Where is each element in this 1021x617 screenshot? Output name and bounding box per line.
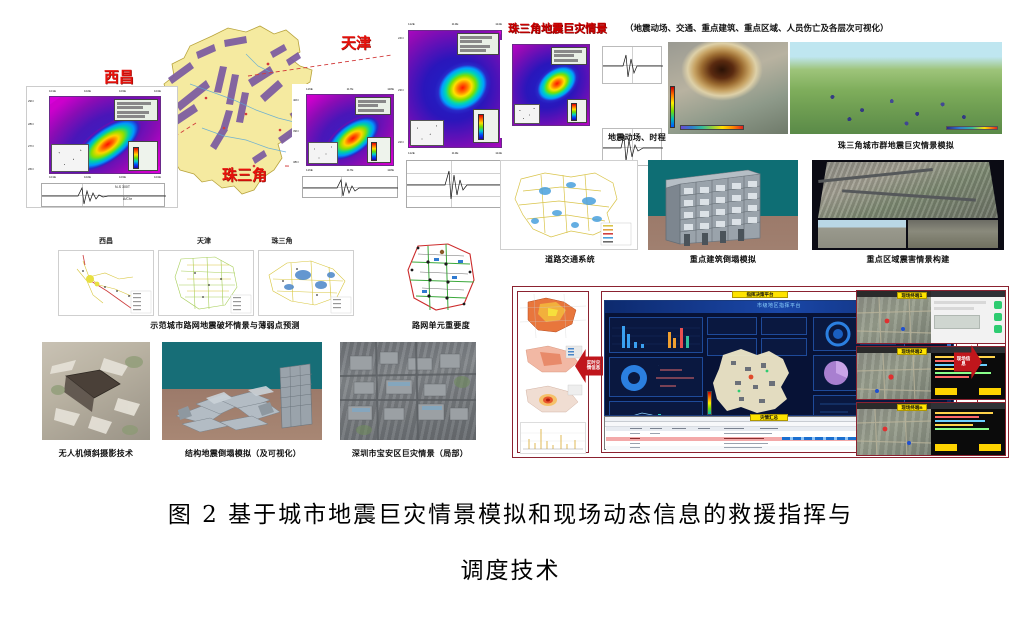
key-area-damage-view: [812, 160, 1004, 250]
caption-uav-oblique: 无人机倾斜摄影技术: [28, 448, 164, 459]
netmap-label-xichang: 西昌: [76, 236, 136, 246]
ground-motion-panel-prd: 112E113E114E 24N23N22N 112E113E114E: [398, 18, 510, 218]
right-header-title: 珠三角地震巨灾情景: [508, 20, 607, 36]
gm-xaxis-tianjin: 116E117E118E: [306, 87, 394, 91]
field-terminal-n[interactable]: 现场终端n: [856, 402, 1006, 456]
caption-line-1: 图 2 基于城市地震巨灾情景模拟和现场动态信息的救援指挥与: [168, 502, 853, 528]
ground-motion-panel-xichang: 101E102E103E104E 29N28N27N26N 101E102E10…: [26, 86, 178, 208]
gm-colorbar-box-xichang: [128, 141, 158, 171]
central-gis-map[interactable]: [705, 319, 809, 416]
caption-structural-collapse: 结构地震倒塌模拟（及可视化）: [152, 448, 334, 459]
hazard-choropleth-map: [520, 294, 586, 338]
prd-3d-terrain-view: [790, 42, 1002, 134]
road-damage-map-xichang: [58, 250, 154, 316]
badge-field-terminal-2[interactable]: 现场终端2: [897, 348, 927, 355]
ground-motion-panel-tianjin: 116E117E118E 40N39N38N 116E117E118E: [292, 84, 402, 210]
prd-pga-surface-view: [668, 42, 788, 134]
gm-legend-prd: [457, 33, 499, 55]
gm-xaxis-prd: 112E113E114E: [408, 22, 502, 26]
population-density-map: [520, 342, 586, 378]
caption-key-building-collapse: 重点建筑倒塌模拟: [660, 254, 786, 265]
svg-text:.: .: [658, 364, 659, 367]
seismograph-tianjin: [302, 176, 398, 198]
terminal-action-button[interactable]: [935, 444, 957, 451]
gm-xaxis-xichang: 101E102E103E104E: [49, 89, 161, 93]
netmap-label-prd: 珠三角: [252, 236, 312, 246]
terminal-action-button[interactable]: [935, 388, 957, 395]
gm-legend-xichang: [114, 99, 158, 121]
seis-trace-label-xichang: N-S 300T: [115, 185, 130, 189]
intensity-epicenter-map: [520, 382, 586, 418]
prd-colorbar: [670, 86, 675, 128]
netmap-label-tianjin: 天津: [174, 236, 234, 246]
gm-inset-tianjin: [308, 142, 338, 164]
seismograph-xichang: [41, 183, 165, 207]
structural-collapse-sim-view: [162, 342, 322, 440]
caption-key-area-damage: 重点区域震害情景构建: [820, 254, 996, 265]
gm-inset-prd: [410, 120, 444, 146]
gm-colorbar-box-tianjin: [367, 137, 391, 163]
right-gm-legend: [551, 47, 587, 65]
badge-field-terminal-1[interactable]: 现场终端1: [897, 292, 927, 299]
widget-line-bar-chart[interactable]: [609, 401, 703, 416]
right-gm-colorbar: [567, 99, 587, 123]
gm-legend-tianjin: [355, 97, 391, 115]
gm-inset-xichang: [51, 144, 89, 172]
field-terminal-2[interactable]: 现场终端2: [856, 346, 1006, 400]
uav-oblique-photo: [42, 342, 150, 440]
terminal-status-ok-icon: [994, 313, 1002, 321]
gm-xaxis2-tianjin: 116E117E118E: [306, 168, 394, 172]
gm-colorbar-box-prd: [473, 109, 499, 143]
damage-bar-chart: [520, 422, 586, 454]
right-header-subtitle: （地震动场、交通、重点建筑、重点区域、人员伤亡及各层次可视化）: [625, 22, 889, 34]
gm-xaxis2-prd: 112E113E114E: [408, 151, 502, 155]
seismograph-prd: [406, 160, 506, 208]
right-gm-contour: [500, 40, 600, 138]
figure-caption: 图 2 基于城市地震巨灾情景模拟和现场动态信息的救援指挥与 调度技术: [0, 487, 1021, 599]
caption-road-traffic-system: 道路交通系统: [520, 254, 620, 265]
badge-command-platform[interactable]: 指挥决策平台: [732, 291, 788, 298]
terminal-action-button[interactable]: [979, 388, 1001, 395]
gm-yaxis-tianjin: 40N39N38N: [293, 98, 299, 164]
prd-3d-legend: [946, 126, 998, 130]
figure-canvas: 西昌 天津 珠三角 101E: [0, 0, 1021, 480]
right-gm-inset: [514, 104, 540, 124]
road-damage-map-tianjin: [158, 250, 254, 316]
gm-yaxis-prd: 24N23N22N: [398, 36, 404, 144]
caption-prd-city-cluster: 珠三角城市群地震巨灾情景模拟: [786, 140, 1006, 151]
road-damage-map-prd: [258, 250, 354, 316]
terminal-action-button[interactable]: [979, 444, 1001, 451]
gm-yaxis-xichang: 29N28N27N26N: [28, 99, 34, 171]
arrow-left-label: 实时灾情信息: [585, 361, 602, 372]
road-legend: [601, 223, 631, 245]
dashboard-left-maps: [517, 291, 589, 453]
road-traffic-system-map: [500, 160, 638, 250]
caption-shenzhen-baoan: 深圳市宝安区巨灾情景（局部）: [330, 448, 490, 459]
road-importance-network: [398, 240, 484, 316]
widget-bar-chart-1[interactable]: [609, 317, 703, 353]
badge-disaster-summary[interactable]: 灾情汇总: [750, 414, 788, 421]
gm-xaxis2-xichang: 101E102E103E104E: [49, 175, 161, 179]
arrow-right-label: 现场信息: [955, 357, 972, 368]
seis-trace-label2-xichang: A/Chr: [123, 197, 132, 201]
caption-road-importance: 路网单元重要度: [382, 320, 500, 331]
terminal-status-ok-icon: [994, 301, 1002, 309]
prd-legend-strip: [680, 125, 744, 130]
field-terminal-1[interactable]: 现场终端1: [856, 290, 1006, 344]
caption-road-damage-scenario: 示范城市路网地震破坏情景与薄弱点预测: [110, 320, 340, 331]
right-gm-timehistory: [598, 42, 666, 134]
widget-donut-chart[interactable]: .: [609, 357, 703, 397]
key-building-collapse-view: [648, 160, 798, 250]
badge-field-terminal-n[interactable]: 现场终端n: [897, 404, 927, 411]
terminal-status-ok-icon: [994, 325, 1002, 333]
shenzhen-baoan-scenario-view: [340, 342, 476, 440]
caption-line-2: 调度技术: [0, 543, 1021, 599]
